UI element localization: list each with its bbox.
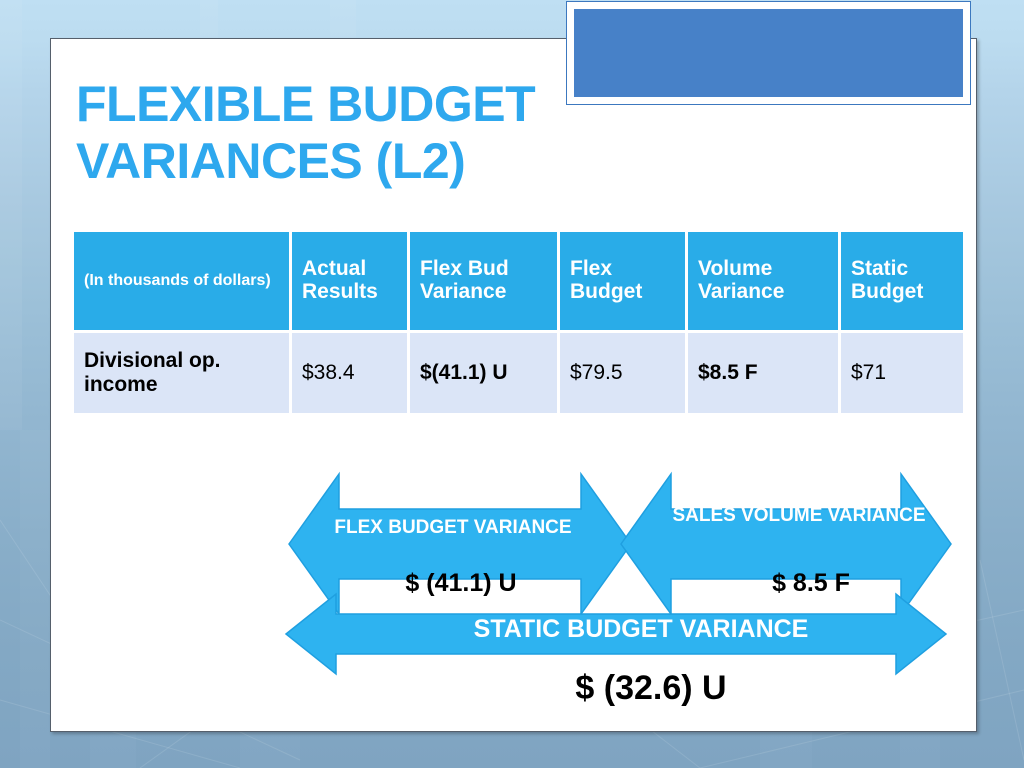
table-header-volume-variance: Volume Variance xyxy=(688,232,838,330)
table-header-flex-bud-variance: Flex Bud Variance xyxy=(410,232,557,330)
flex-budget-variance-arrow xyxy=(289,474,631,614)
cell-flex-bud-variance: $(41.1) U xyxy=(410,333,557,413)
cell-row-label: Divisional op. income xyxy=(74,333,289,413)
table-header-static-budget: Static Budget xyxy=(841,232,963,330)
decorative-blue-rectangle-fill xyxy=(574,9,963,97)
table-header-row: (In thousands of dollars) Actual Results… xyxy=(74,232,963,330)
table-header-units: (In thousands of dollars) xyxy=(74,232,289,330)
cell-actual-results: $38.4 xyxy=(292,333,407,413)
table-header-actual-results: Actual Results xyxy=(292,232,407,330)
variance-table: (In thousands of dollars) Actual Results… xyxy=(71,229,966,416)
sales-volume-variance-arrow xyxy=(621,474,951,614)
table-header-flex-budget: Flex Budget xyxy=(560,232,685,330)
arrow-shapes xyxy=(51,429,976,719)
static-budget-variance-arrow xyxy=(286,594,946,674)
table-row: Divisional op. income $38.4 $(41.1) U $7… xyxy=(74,333,963,413)
decorative-blue-rectangle xyxy=(566,1,971,105)
variance-arrow-diagram: FLEX BUDGET VARIANCE SALES VOLUME VARIAN… xyxy=(51,429,976,719)
slide-canvas: FLEXIBLE BUDGET VARIANCES (L2) (In thous… xyxy=(50,38,977,732)
cell-volume-variance: $8.5 F xyxy=(688,333,838,413)
cell-static-budget: $71 xyxy=(841,333,963,413)
cell-flex-budget: $79.5 xyxy=(560,333,685,413)
